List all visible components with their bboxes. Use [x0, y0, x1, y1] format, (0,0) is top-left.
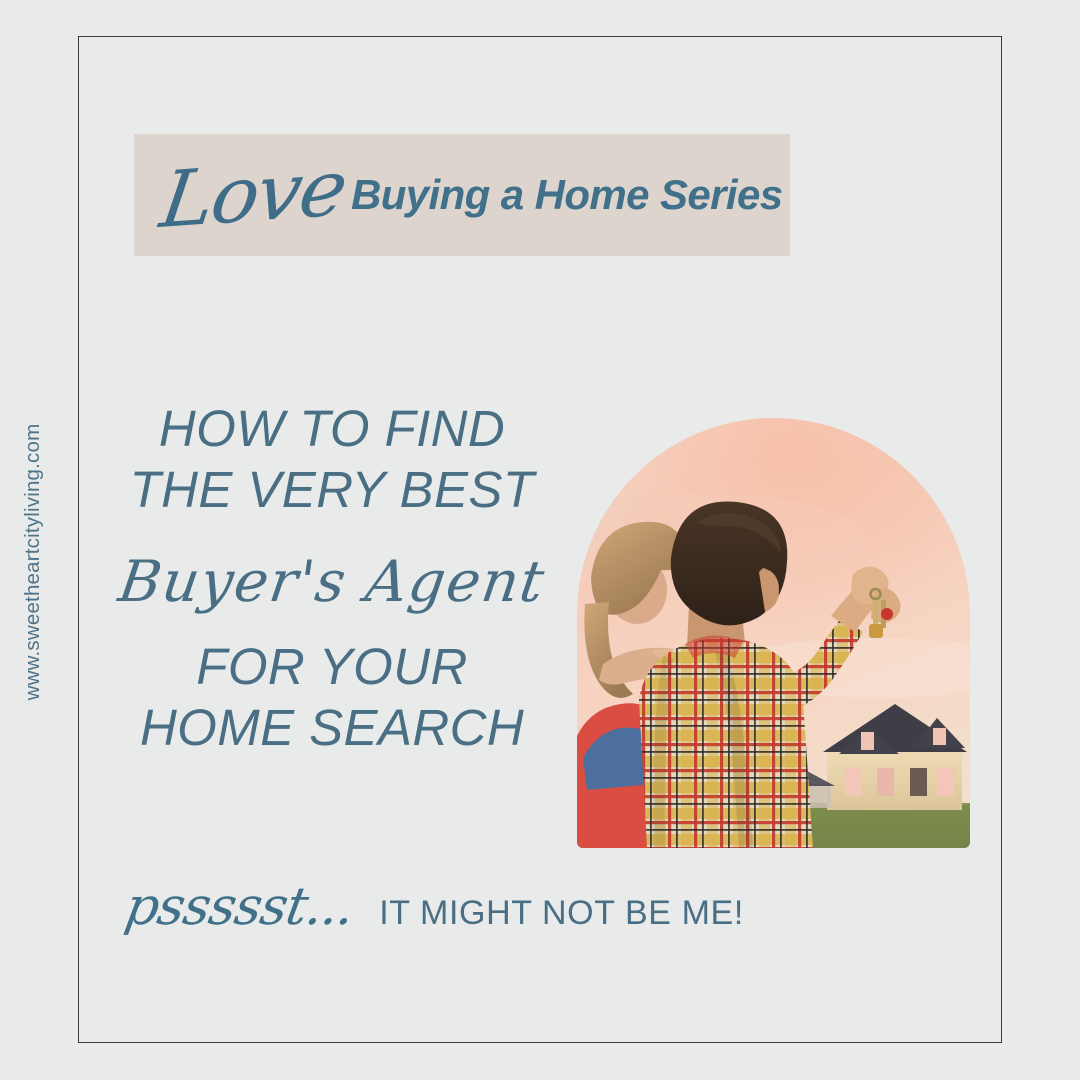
- hero-photo-arch: [577, 418, 970, 848]
- post-canvas: Love Buying a Home Series www.sweetheart…: [0, 0, 1080, 1080]
- headline-script-line: Buyer's Agent: [89, 534, 574, 630]
- hero-photo-illustration: [577, 418, 970, 848]
- banner-series-title: Buying a Home Series: [351, 171, 782, 219]
- banner-script-word: Love: [156, 150, 350, 240]
- headline-line-2: THE VERY BEST: [96, 459, 568, 520]
- website-url-vertical[interactable]: www.sweetheartcityliving.com: [16, 352, 50, 772]
- tagline-block: pssssst... IT MIGHT NOT BE ME!: [126, 876, 744, 944]
- headline-line-1: HOW TO FIND: [96, 398, 568, 459]
- tagline-caps: IT MIGHT NOT BE ME!: [379, 882, 744, 944]
- headline-block: HOW TO FIND THE VERY BEST Buyer's Agent …: [96, 398, 568, 758]
- tagline-script: pssssst...: [121, 876, 359, 938]
- series-banner: Love Buying a Home Series: [134, 134, 790, 256]
- headline-line-3: FOR YOUR: [96, 636, 568, 697]
- series-banner-content: Love Buying a Home Series: [134, 134, 790, 256]
- headline-line-4: HOME SEARCH: [96, 697, 568, 758]
